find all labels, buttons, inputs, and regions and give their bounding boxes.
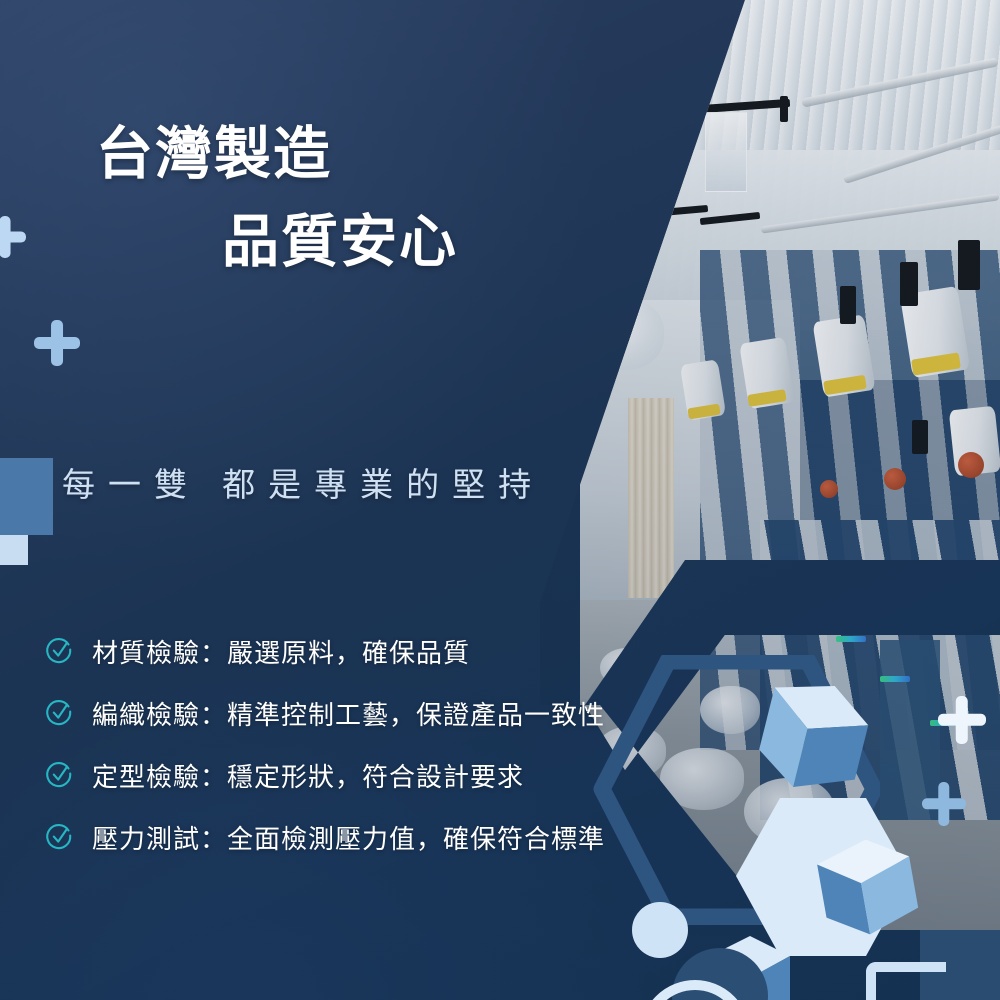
list-item-label: 定型檢驗：穩定形狀，符合設計要求 <box>92 757 524 794</box>
check-circle-icon <box>44 636 74 666</box>
poster-canvas: 台灣製造 品質安心 每一雙 都是專業的堅持 材質檢驗：嚴選原料，確保品質 編織檢… <box>0 0 1000 1000</box>
corner-bracket-decor <box>866 962 946 1000</box>
subtitle-accent-bar-small <box>0 535 28 565</box>
headline-line-1: 台灣製造 <box>96 108 332 190</box>
list-item: 壓力測試：全面檢測壓力值，確保符合標準 <box>44 806 684 868</box>
plus-decor-left-lower <box>34 320 80 366</box>
list-item-label: 編織檢驗：精準控制工藝，保證產品一致性 <box>92 695 605 732</box>
cube-decor-upper <box>744 668 880 804</box>
check-circle-icon <box>44 822 74 852</box>
headline-line-2: 品質安心 <box>222 196 458 278</box>
plus-decor-right-upper <box>938 696 986 744</box>
list-item: 定型檢驗：穩定形狀，符合設計要求 <box>44 744 684 806</box>
list-item-label: 材質檢驗：嚴選原料，確保品質 <box>92 633 470 670</box>
plus-decor-left-upper <box>0 216 26 258</box>
list-item-label: 壓力測試：全面檢測壓力值，確保符合標準 <box>92 819 605 856</box>
circle-decor-pale <box>632 902 688 958</box>
check-circle-icon <box>44 760 74 790</box>
feature-list: 材質檢驗：嚴選原料，確保品質 編織檢驗：精準控制工藝，保證產品一致性 定型檢驗：… <box>44 620 684 868</box>
subtitle-text: 每一雙 都是專業的堅持 <box>62 458 544 506</box>
plus-decor-right-lower <box>922 782 966 826</box>
check-circle-icon <box>44 698 74 728</box>
subtitle-accent-bar <box>0 458 53 535</box>
list-item: 材質檢驗：嚴選原料，確保品質 <box>44 620 684 682</box>
list-item: 編織檢驗：精準控制工藝，保證產品一致性 <box>44 682 684 744</box>
cube-decor-middle <box>808 828 928 948</box>
